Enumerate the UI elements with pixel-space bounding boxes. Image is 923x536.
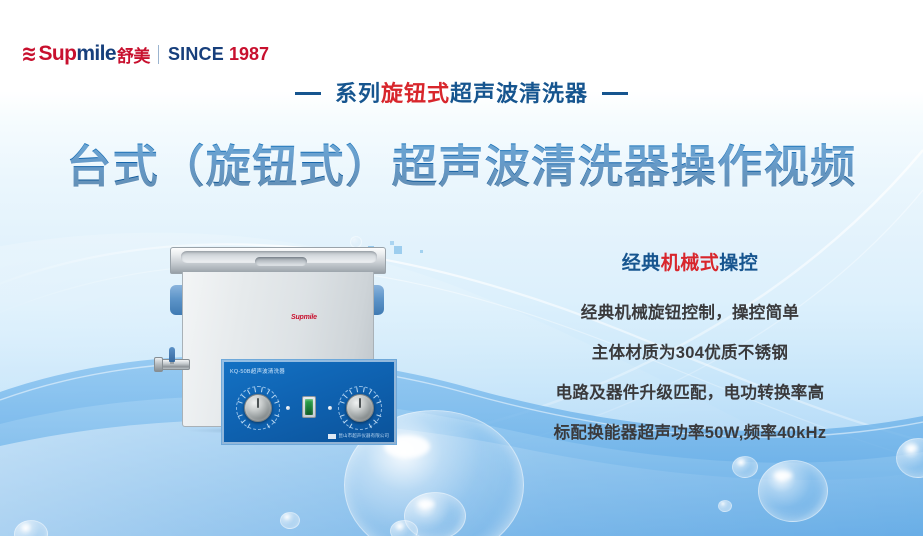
valve-lever-handle[interactable] [169, 347, 175, 362]
logo-chinese: 舒美 [117, 42, 150, 67]
valve-nut [154, 357, 163, 372]
feature-heading-before: 经典 [622, 253, 661, 274]
feature-heading: 经典机械式操控 [470, 248, 910, 275]
bubble-right-small [732, 456, 758, 478]
manufacturer-mark-icon [328, 434, 336, 439]
feature-heading-highlight: 机械式 [661, 253, 720, 274]
timer-knob[interactable] [236, 386, 280, 430]
drain-valve [152, 347, 192, 381]
bubble-mid-left [280, 512, 300, 529]
tank-lid [170, 247, 386, 274]
bubble-far-right [896, 438, 923, 478]
feature-copy-block: 经典机械式操控 经典机械旋钮控制，操控简单 主体材质为304优质不锈钢 电路及器… [470, 248, 910, 443]
product-brand-text: Supmile [291, 314, 317, 321]
feature-item: 标配换能器超声功率50W,频率40kHz [470, 419, 910, 443]
subtitle-highlight: 旋钮式 [381, 81, 450, 106]
heater-knob[interactable] [338, 386, 382, 430]
logo-swoosh-icon: ≋ [21, 41, 36, 67]
page-title: 台式（旋钮式）超声波清洗器操作视频 [0, 130, 923, 195]
timer-indicator-led [286, 406, 290, 410]
feature-item: 电路及器件升级匹配，电功转换率高 [470, 379, 910, 403]
header-bar: ≋ Sup mile 舒美 SINCE 1987 [0, 0, 923, 78]
subtitle-before: 系列 [335, 81, 381, 106]
product-image-ultrasonic-cleaner: Supmile KQ-50B超声波清洗器 [152, 247, 402, 429]
power-switch-rocker [305, 399, 313, 415]
dash-right-icon [602, 92, 628, 95]
brand-logo[interactable]: ≋ Sup mile 舒美 SINCE 1987 [20, 41, 269, 67]
logo-mile-text: mile [76, 42, 116, 66]
decor-square-2 [390, 241, 394, 245]
decor-square-4 [420, 250, 423, 253]
tank-body: Supmile KQ-50B超声波清洗器 [182, 272, 374, 427]
bubble-right-large [758, 460, 828, 522]
lid-grip-icon [255, 257, 307, 266]
power-switch[interactable] [302, 396, 316, 418]
feature-item: 主体材质为304优质不锈钢 [470, 339, 910, 363]
feature-item: 经典机械旋钮控制，操控简单 [470, 299, 910, 323]
timer-knob-cap[interactable] [244, 394, 272, 422]
heater-indicator-led [328, 406, 332, 410]
bubble-small [390, 520, 418, 536]
dash-left-icon [295, 92, 321, 95]
poster-canvas: ≋ Sup mile 舒美 SINCE 1987 系列旋钮式超声波清洗器 台式（… [0, 0, 923, 536]
bubble-right-tiny [718, 500, 732, 512]
feature-heading-after: 操控 [719, 253, 758, 274]
control-panel: KQ-50B超声波清洗器 [221, 359, 397, 445]
logo-divider [158, 45, 159, 64]
panel-model-label: KQ-50B超声波清洗器 [230, 367, 285, 375]
series-subtitle: 系列旋钮式超声波清洗器 [0, 76, 923, 108]
logo-since-year: 1987 [229, 44, 269, 65]
panel-manufacturer: 昆山市超声仪器有限公司 [328, 433, 389, 439]
bubble-left-edge [14, 520, 48, 536]
heater-knob-cap[interactable] [346, 394, 374, 422]
manufacturer-text: 昆山市超声仪器有限公司 [338, 433, 389, 439]
subtitle-after: 超声波清洗器 [450, 81, 588, 106]
product-brand-label: Supmile [291, 314, 317, 321]
logo-sup-text: Sup [38, 42, 76, 66]
logo-since-text: SINCE [168, 44, 224, 65]
